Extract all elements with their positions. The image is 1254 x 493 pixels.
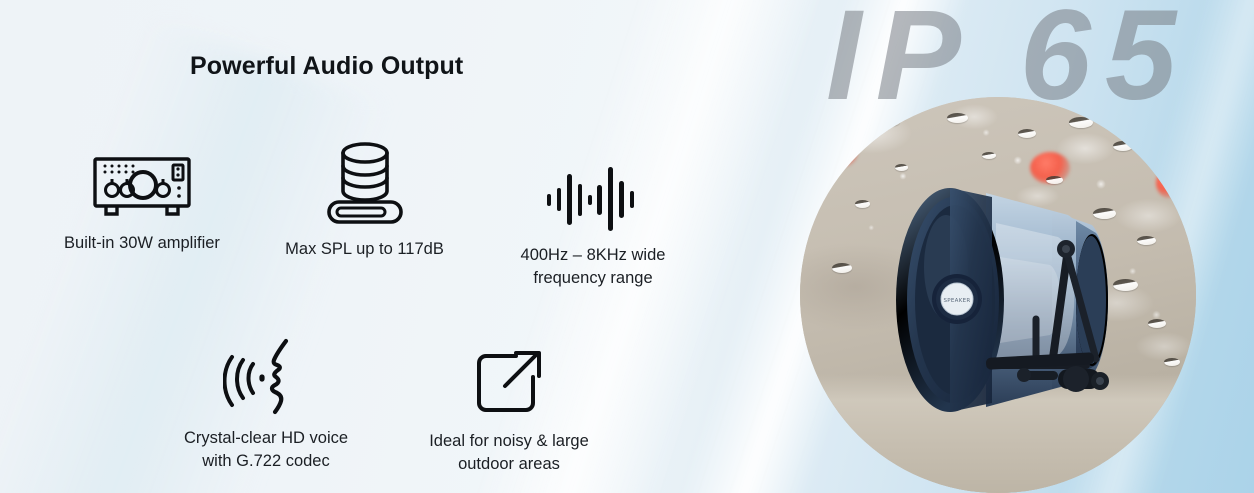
feature-caption: 400Hz – 8KHz wide frequency range <box>487 244 699 291</box>
svg-text:SPEAKER: SPEAKER <box>943 298 970 304</box>
feature-caption: Ideal for noisy & large outdoor areas <box>405 430 613 477</box>
feature-item-hd-voice: Crystal-clear HD voice with G.722 codec <box>157 325 375 474</box>
feature-item-spl: Max SPL up to 117dB <box>272 136 457 261</box>
feature-item-amplifier: Built-in 30W amplifier <box>42 130 242 255</box>
promo-banner: Powerful Audio Output <box>0 0 1254 493</box>
feature-item-frequency: 400Hz – 8KHz wide frequency range <box>487 142 699 291</box>
product-photo-circle: SPEAKER <box>800 97 1196 493</box>
feature-caption: Built-in 30W amplifier <box>42 232 242 255</box>
spl-stack-icon <box>272 136 457 228</box>
feature-caption: Max SPL up to 117dB <box>272 238 457 261</box>
page-title: Powerful Audio Output <box>190 52 463 81</box>
product-photo: SPEAKER <box>800 97 1196 493</box>
feature-caption: Crystal-clear HD voice with G.722 codec <box>157 427 375 474</box>
ip-rating-watermark: IP 65 <box>826 0 1190 120</box>
waveform-icon <box>487 142 699 234</box>
feature-item-outdoor: Ideal for noisy & large outdoor areas <box>405 328 613 477</box>
amplifier-icon <box>42 130 242 222</box>
speaking-voice-icon <box>157 325 375 417</box>
horn-speaker-graphic: SPEAKER <box>800 97 1196 493</box>
expand-arrow-icon <box>405 328 613 420</box>
